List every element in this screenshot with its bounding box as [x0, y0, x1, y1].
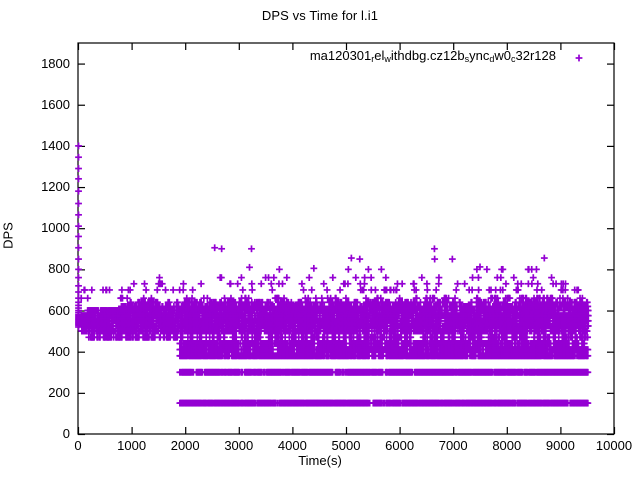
- x-tick-label: 9000: [530, 438, 590, 453]
- y-tick-label: 1000: [26, 220, 70, 235]
- y-tick-label: 600: [26, 303, 70, 318]
- gnuplot-chart: DPS vs Time for l.i1 Time(s) DPS ma12030…: [0, 0, 640, 480]
- x-tick-label: 3000: [209, 438, 269, 453]
- y-tick-label: 400: [26, 344, 70, 359]
- y-tick-label: 1600: [26, 97, 70, 112]
- plot-canvas: [0, 0, 640, 480]
- x-tick-label: 1000: [102, 438, 162, 453]
- x-tick-label: 7000: [423, 438, 483, 453]
- y-tick-label: 1800: [26, 56, 70, 71]
- y-tick-label: 1400: [26, 138, 70, 153]
- x-tick-label: 4000: [262, 438, 322, 453]
- x-tick-label: 5000: [316, 438, 376, 453]
- y-tick-label: 200: [26, 385, 70, 400]
- x-tick-label: 2000: [155, 438, 215, 453]
- y-tick-label: 1200: [26, 179, 70, 194]
- x-tick-label: 6000: [370, 438, 430, 453]
- x-tick-label: 8000: [477, 438, 537, 453]
- y-tick-label: 800: [26, 261, 70, 276]
- x-tick-label: 10000: [584, 438, 640, 453]
- x-tick-label: 0: [48, 438, 108, 453]
